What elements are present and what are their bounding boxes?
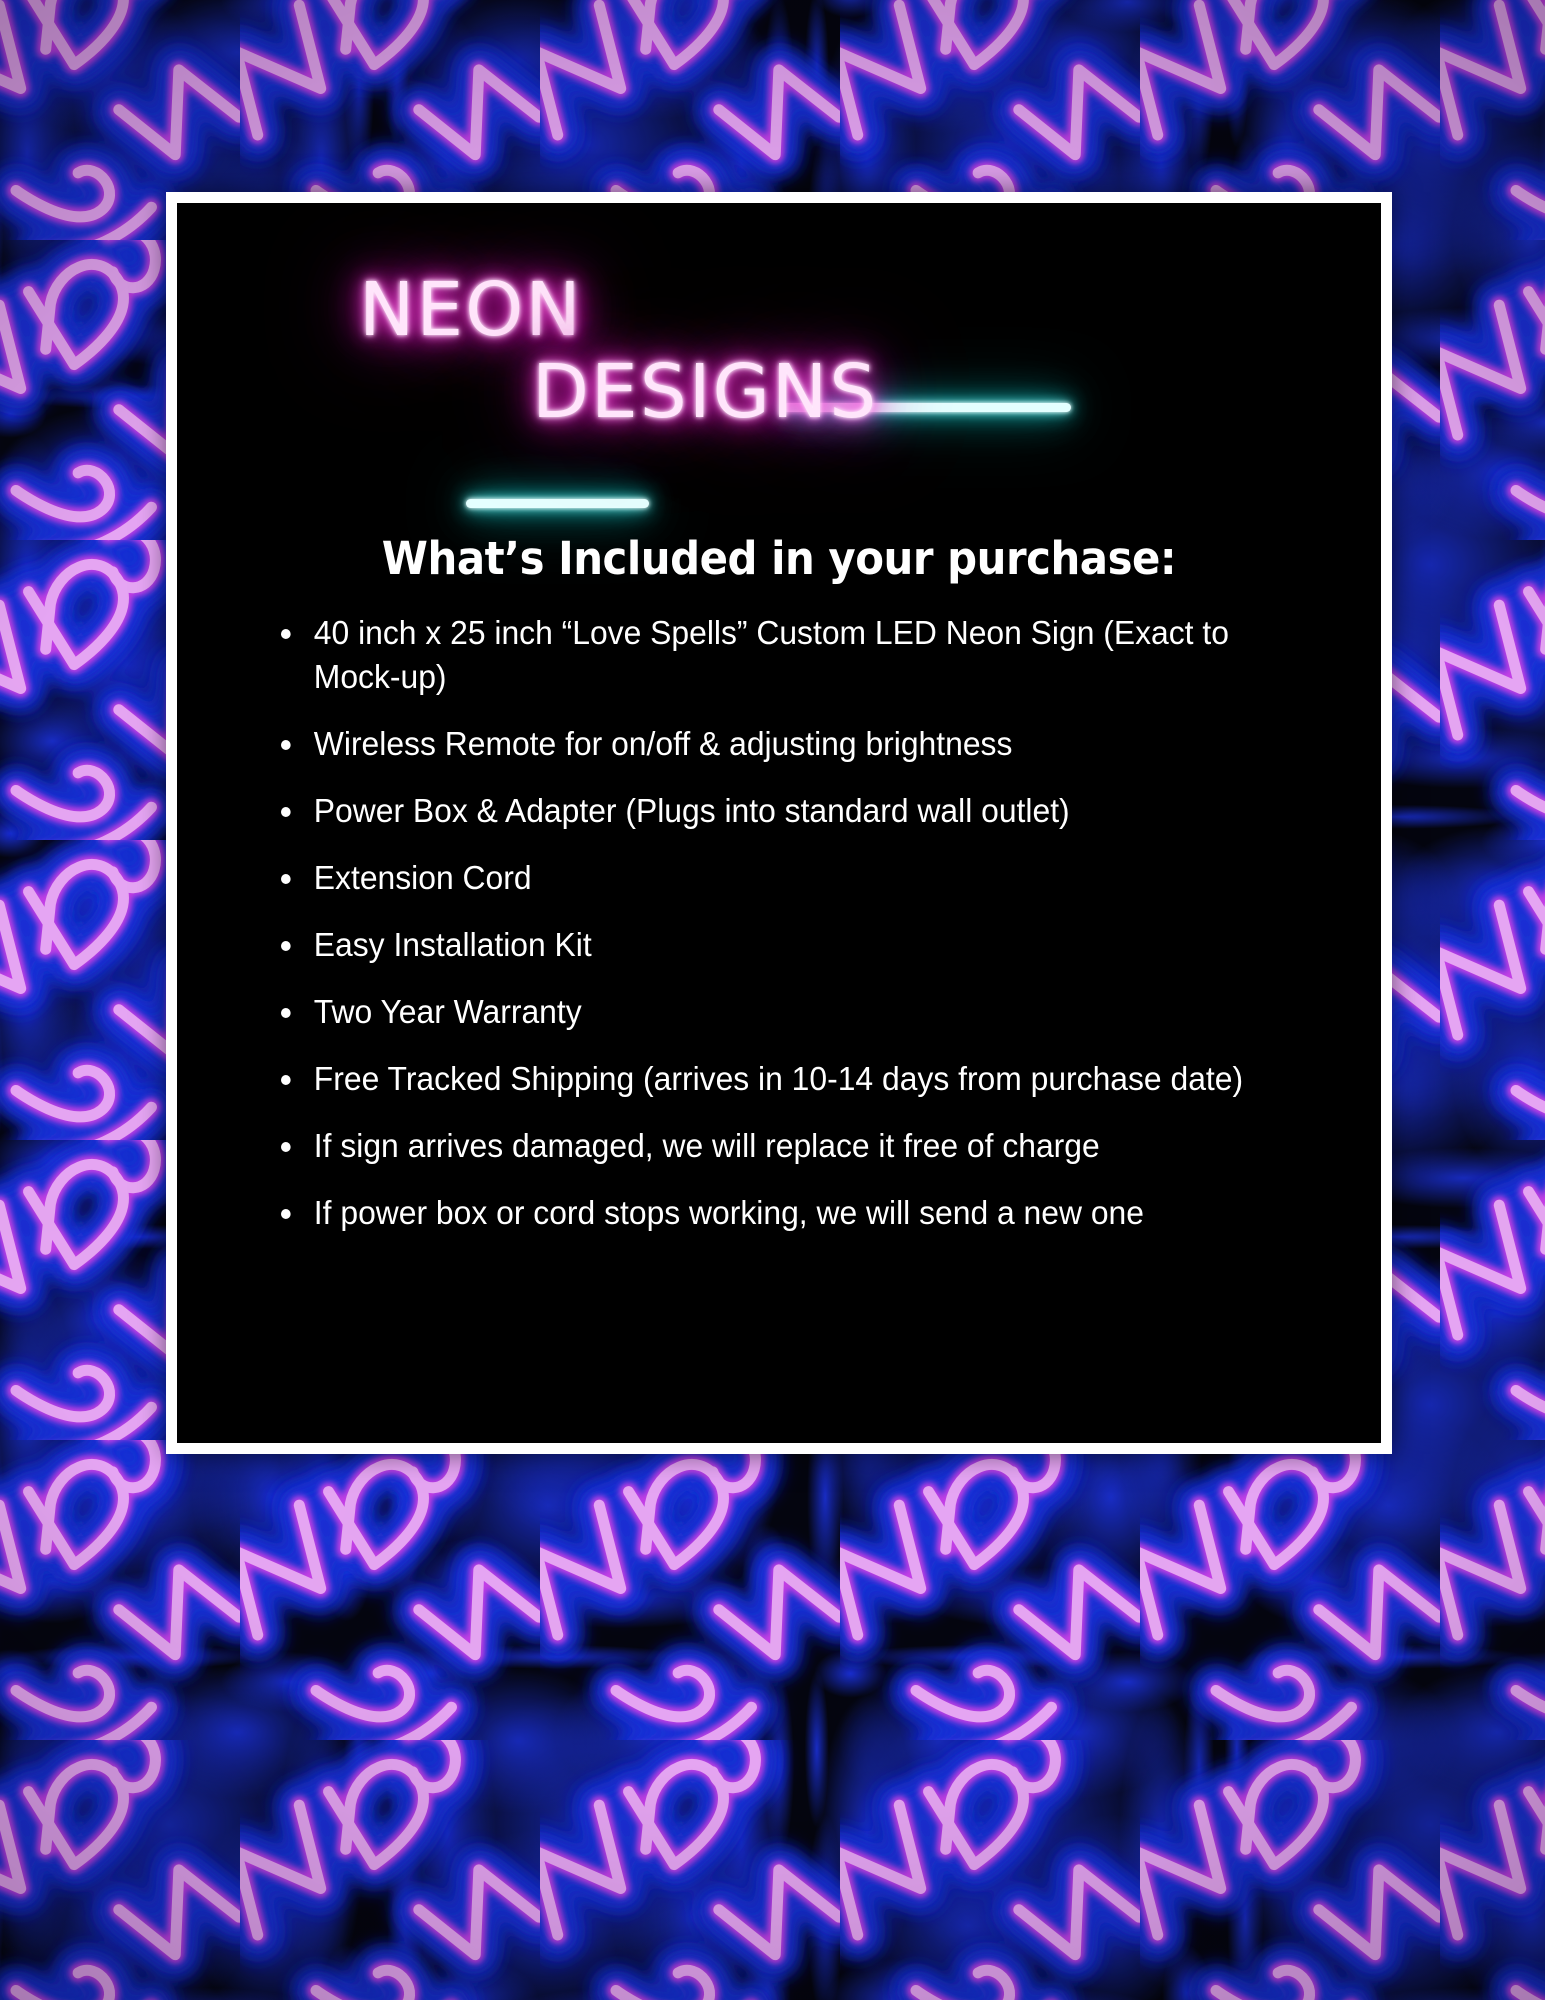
list-item: If power box or cord stops working, we w… — [281, 1191, 1275, 1235]
content-card: NEON DESIGNS What’s Included in your pur… — [177, 203, 1381, 1443]
neon-designs-logo: NEON DESIGNS — [177, 245, 1381, 490]
list-item: Power Box & Adapter (Plugs into standard… — [281, 789, 1275, 833]
logo-word-designs: DESIGNS — [532, 349, 878, 435]
page-title: What’s Included in your purchase: — [219, 532, 1339, 585]
list-item: Easy Installation Kit — [281, 923, 1275, 967]
content-card-frame: NEON DESIGNS What’s Included in your pur… — [166, 192, 1392, 1454]
logo-word-neon: NEON — [359, 267, 583, 353]
list-item: 40 inch x 25 inch “Love Spells” Custom L… — [281, 611, 1275, 699]
cyan-bar-bottom-icon — [466, 499, 649, 508]
included-items-list: 40 inch x 25 inch “Love Spells” Custom L… — [177, 611, 1381, 1235]
page-root: NEON DESIGNS What’s Included in your pur… — [0, 0, 1545, 2000]
list-item: If sign arrives damaged, we will replace… — [281, 1124, 1275, 1168]
list-item: Two Year Warranty — [281, 990, 1275, 1034]
list-item: Extension Cord — [281, 856, 1275, 900]
list-item: Wireless Remote for on/off & adjusting b… — [281, 722, 1275, 766]
list-item: Free Tracked Shipping (arrives in 10-14 … — [281, 1057, 1275, 1101]
